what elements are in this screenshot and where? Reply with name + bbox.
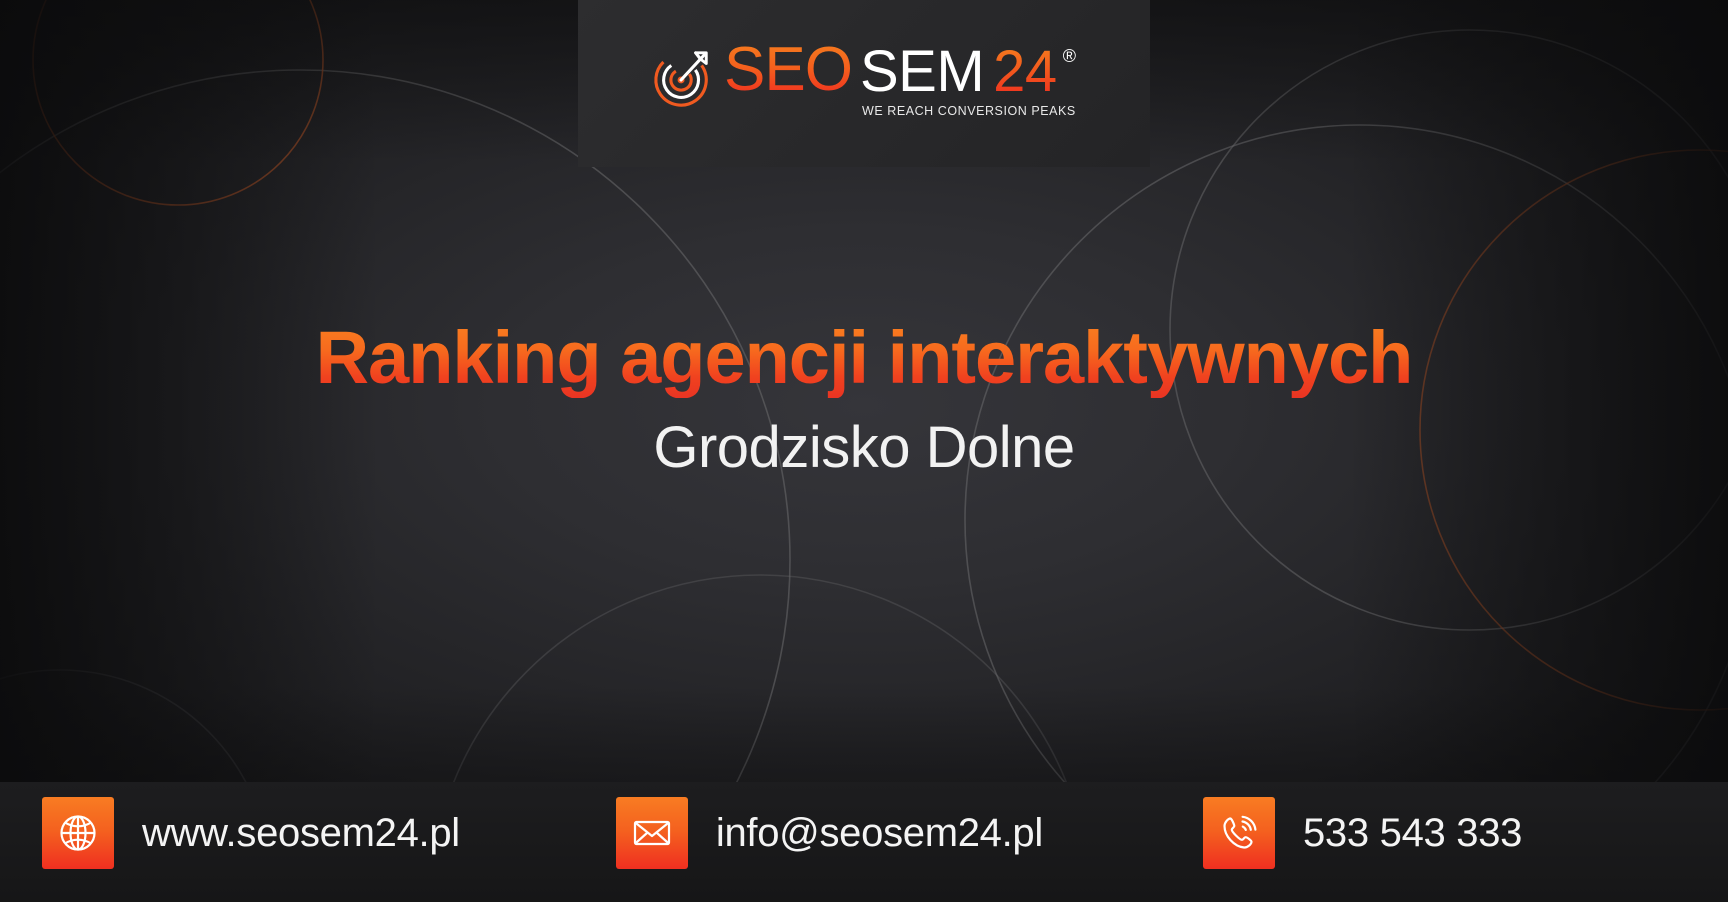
seosem24-logo[interactable]: SEO SEM 24 ® WE REACH CONVERSION PEAKS [652, 41, 1076, 118]
logo-tagline: WE REACH CONVERSION PEAKS [860, 104, 1076, 118]
website-label: www.seosem24.pl [142, 811, 460, 856]
slide-root: SEO SEM 24 ® WE REACH CONVERSION PEAKS R… [0, 0, 1728, 902]
email-label: info@seosem24.pl [716, 811, 1043, 856]
logo-wordmark: SEO SEM 24 ® WE REACH CONVERSION PEAKS [724, 41, 1076, 118]
globe-icon [42, 797, 114, 869]
envelope-icon [616, 797, 688, 869]
logo-panel: SEO SEM 24 ® WE REACH CONVERSION PEAKS [578, 0, 1150, 167]
contact-email[interactable]: info@seosem24.pl [616, 797, 1043, 869]
registered-trademark-icon: ® [1063, 47, 1076, 65]
target-dart-icon [652, 47, 714, 109]
phone-icon [1203, 797, 1275, 869]
contact-website[interactable]: www.seosem24.pl [42, 797, 460, 869]
headline-block: Ranking agencji interaktywnych Grodzisko… [0, 318, 1728, 480]
logo-sem-text: SEM [860, 43, 984, 101]
contact-phone[interactable]: 533 543 333 [1203, 797, 1522, 869]
contact-footer-bar: www.seosem24.pl info@seosem24.pl [0, 782, 1728, 902]
logo-24-text: 24 [993, 43, 1057, 101]
phone-label: 533 543 333 [1303, 811, 1522, 856]
page-title: Ranking agencji interaktywnych [0, 318, 1728, 398]
logo-seo-text: SEO [724, 41, 860, 100]
page-subtitle: Grodzisko Dolne [0, 416, 1728, 480]
